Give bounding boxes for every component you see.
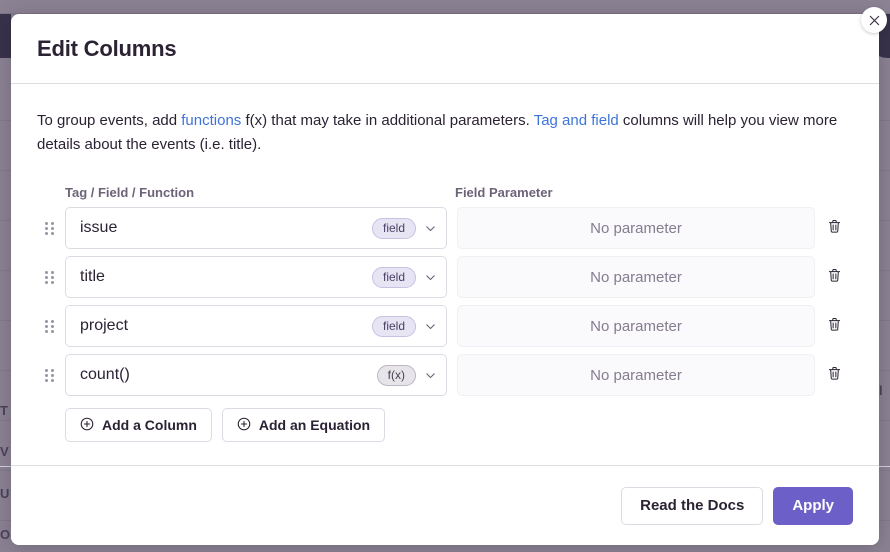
table-row: count() f(x) No parameter [37, 354, 853, 396]
delete-column-button[interactable] [815, 256, 853, 298]
background-text-fragment: T [0, 403, 11, 418]
background-text-fragment: U [0, 486, 11, 501]
close-icon [869, 15, 880, 26]
add-equation-button[interactable]: Add an Equation [222, 408, 385, 442]
drag-handle[interactable] [37, 305, 65, 347]
read-the-docs-button[interactable]: Read the Docs [621, 487, 763, 525]
column-select-title[interactable]: title field [65, 256, 447, 298]
drag-grip-icon [45, 271, 54, 284]
column-select-issue[interactable]: issue field [65, 207, 447, 249]
column-type-badge: field [372, 267, 416, 288]
delete-column-button[interactable] [815, 354, 853, 396]
field-parameter-placeholder: No parameter [590, 318, 682, 335]
column-header-tag-field-function: Tag / Field / Function [65, 185, 455, 200]
chevron-down-icon [424, 320, 437, 333]
column-type-badge: field [372, 316, 416, 337]
chevron-down-icon [424, 271, 437, 284]
table-row: project field No parameter [37, 305, 853, 347]
plus-circle-icon [80, 417, 94, 434]
add-column-label: Add a Column [102, 417, 197, 433]
modal-header: Edit Columns [11, 14, 879, 84]
delete-column-button[interactable] [815, 305, 853, 347]
add-equation-label: Add an Equation [259, 417, 370, 433]
drag-grip-icon [45, 320, 54, 333]
column-header-field-parameter: Field Parameter [455, 185, 853, 200]
columns-editor: Tag / Field / Function Field Parameter i… [37, 185, 853, 442]
drag-grip-icon [45, 369, 54, 382]
background-text-fragment: O [0, 527, 11, 542]
background-header-bar-left [0, 14, 11, 58]
column-select-label: title [80, 268, 372, 286]
description-text-part1: To group events, add [37, 112, 181, 129]
close-modal-button[interactable] [861, 7, 887, 33]
trash-icon [826, 218, 843, 238]
chevron-down-icon [424, 369, 437, 382]
column-select-count[interactable]: count() f(x) [65, 354, 447, 396]
table-row: issue field No parameter [37, 207, 853, 249]
functions-link[interactable]: functions [181, 112, 241, 129]
add-buttons-group: Add a Column Add an Equation [37, 408, 853, 442]
plus-circle-icon [237, 417, 251, 434]
drag-handle[interactable] [37, 256, 65, 298]
apply-button[interactable]: Apply [773, 487, 853, 525]
page-title: Edit Columns [37, 36, 176, 62]
columns-header-row: Tag / Field / Function Field Parameter [37, 185, 853, 200]
drag-handle[interactable] [37, 207, 65, 249]
modal-footer: Read the Docs Apply [11, 465, 879, 545]
column-select-label: count() [80, 366, 377, 384]
edit-columns-modal: Edit Columns To group events, add functi… [11, 14, 879, 545]
drag-handle[interactable] [37, 354, 65, 396]
field-parameter-box: No parameter [457, 207, 815, 249]
field-parameter-placeholder: No parameter [590, 269, 682, 286]
chevron-down-icon [424, 222, 437, 235]
field-parameter-box: No parameter [457, 305, 815, 347]
column-type-badge: f(x) [377, 365, 416, 386]
background-panel-edge-left [0, 466, 11, 467]
description-text-part2: f(x) that may take in additional paramet… [241, 112, 533, 129]
column-select-label: issue [80, 219, 372, 237]
column-type-badge: field [372, 218, 416, 239]
add-column-button[interactable]: Add a Column [65, 408, 212, 442]
delete-column-button[interactable] [815, 207, 853, 249]
modal-description: To group events, add functions f(x) that… [37, 109, 843, 157]
modal-body: To group events, add functions f(x) that… [11, 84, 879, 465]
field-parameter-placeholder: No parameter [590, 367, 682, 384]
trash-icon [826, 365, 843, 385]
field-parameter-box: No parameter [457, 256, 815, 298]
table-row: title field No parameter [37, 256, 853, 298]
trash-icon [826, 267, 843, 287]
tag-and-field-link[interactable]: Tag and field [534, 112, 619, 129]
trash-icon [826, 316, 843, 336]
field-parameter-box: No parameter [457, 354, 815, 396]
column-select-label: project [80, 317, 372, 335]
column-select-project[interactable]: project field [65, 305, 447, 347]
field-parameter-placeholder: No parameter [590, 220, 682, 237]
background-text-fragment: V [0, 444, 11, 459]
drag-grip-icon [45, 222, 54, 235]
